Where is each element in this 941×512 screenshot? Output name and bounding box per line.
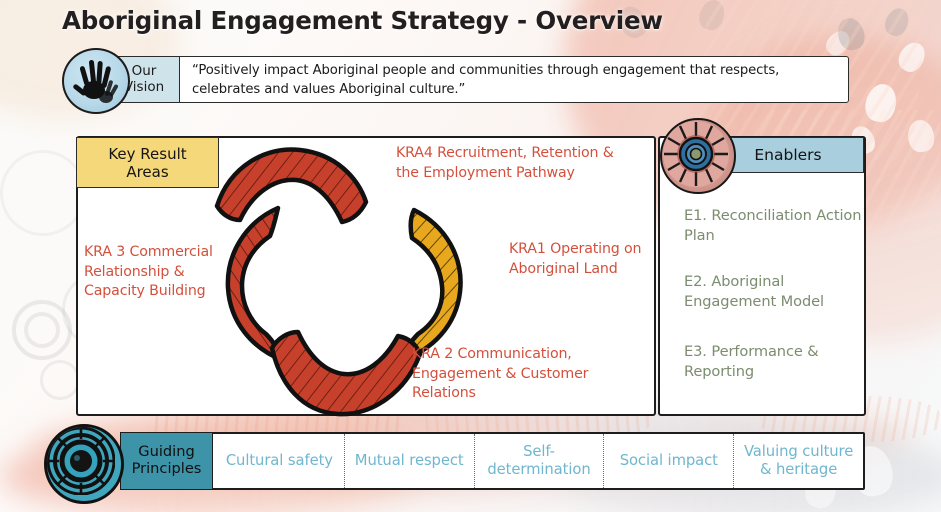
- vision-statement-text: “Positively impact Aboriginal people and…: [192, 62, 837, 99]
- guiding-principle-cultural-safety: Cultural safety: [215, 434, 345, 488]
- guiding-principles-bar: Cultural safety Mutual respect Self-dete…: [120, 432, 865, 490]
- key-result-areas-tab: Key Result Areas: [76, 137, 219, 188]
- kra-label-kra4: KRA4 Recruitment, Retention & the Employ…: [396, 144, 631, 183]
- gp-tab-line1: Guiding: [138, 444, 194, 461]
- kra-label-kra2: KRA 2 Communication, Engagement & Custom…: [412, 345, 637, 404]
- kra-tab-line1: Key Result: [108, 145, 186, 163]
- vision-label-line1: Our: [132, 64, 157, 80]
- kra-label-kra1: KRA1 Operating on Aboriginal Land: [509, 240, 649, 279]
- boomerang-top: [217, 149, 366, 222]
- boomerang-bottom: [272, 332, 420, 414]
- guiding-principle-valuing-culture: Valuing culture & heritage: [734, 434, 863, 488]
- guiding-principle-social-impact: Social impact: [604, 434, 734, 488]
- enabler-item-e3: E3. Performance & Reporting: [684, 342, 864, 382]
- guiding-principle-mutual-respect: Mutual respect: [345, 434, 475, 488]
- concentric-circles-icon: [44, 424, 124, 504]
- kra-label-kra3: KRA 3 Commercial Relationship & Capacity…: [84, 243, 244, 302]
- page-title: Aboriginal Engagement Strategy - Overvie…: [62, 6, 663, 35]
- kra-tab-line2: Areas: [126, 163, 168, 181]
- target-eye-icon: [660, 118, 736, 194]
- guiding-principles-tab: Guiding Principles: [120, 432, 213, 490]
- crescent-right: [402, 210, 461, 360]
- handprint-icon: [62, 48, 130, 114]
- enabler-item-e1: E1. Reconciliation Action Plan: [684, 206, 864, 246]
- enabler-item-e2: E2. Aboriginal Engagement Model: [684, 272, 864, 312]
- gp-tab-line2: Principles: [132, 461, 202, 478]
- guiding-principle-self-determination: Self-determination: [475, 434, 605, 488]
- vision-section: Our Vision “Positively impact Aboriginal…: [62, 56, 849, 103]
